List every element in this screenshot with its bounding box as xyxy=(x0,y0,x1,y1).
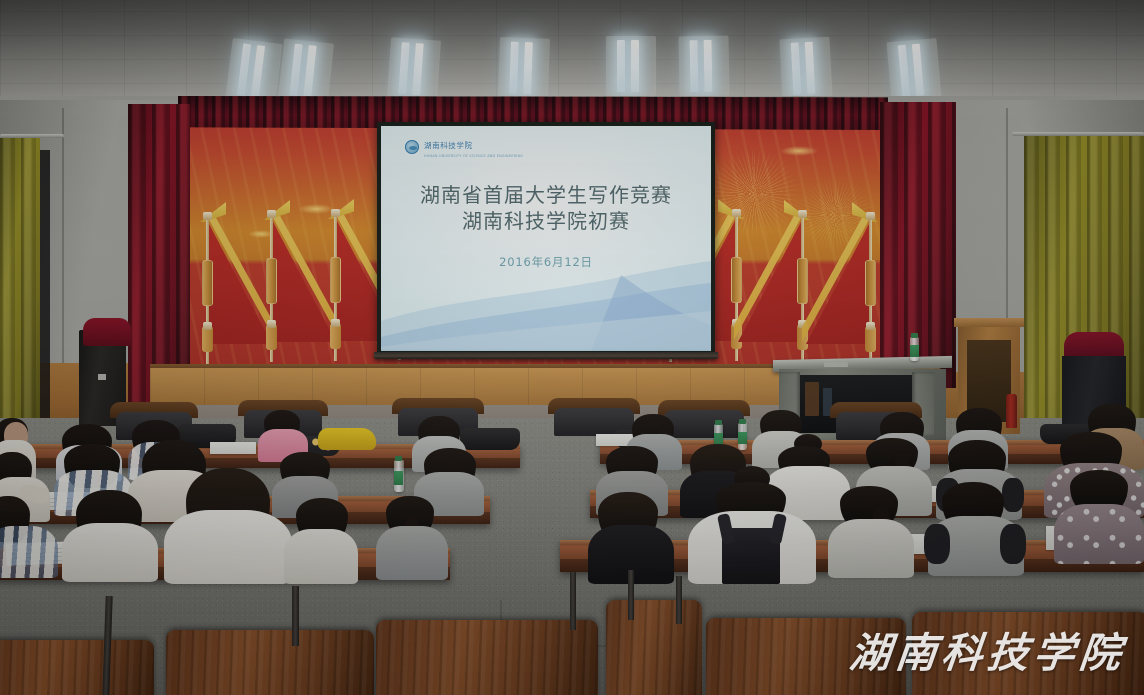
slide-title-line1: 湖南省首届大学生写作竞赛 xyxy=(381,182,711,208)
student-foreground xyxy=(688,470,816,584)
door-gap xyxy=(40,150,50,422)
handbag xyxy=(460,428,520,450)
ceiling-lamp xyxy=(896,43,934,98)
slide-date: 2016年6月12日 xyxy=(381,254,711,270)
university-seal-icon: 湖南科技学院 HUNAN UNIVERSITY OF SCIENCE AND E… xyxy=(405,135,523,158)
wall-seam xyxy=(62,108,64,370)
banner-flag xyxy=(806,176,876,366)
student-foreground xyxy=(164,468,292,584)
water-bottle-icon xyxy=(394,460,404,492)
foreground-chair xyxy=(0,640,154,695)
screen-bottom-bar xyxy=(374,352,718,359)
ceiling-lamp xyxy=(615,40,649,92)
foreground-chair xyxy=(166,630,374,695)
student xyxy=(1054,470,1144,564)
student xyxy=(376,496,448,580)
foreground-chair xyxy=(606,600,702,695)
slide-logo-text: 湖南科技学院 xyxy=(424,141,473,150)
stage-curtain-left xyxy=(128,104,190,404)
ceiling-lamp xyxy=(235,43,275,99)
slide-wave-graphic xyxy=(381,259,711,351)
console-label-plate xyxy=(824,362,848,367)
red-cloth-drape xyxy=(83,318,131,346)
ceiling-shading xyxy=(0,0,1144,108)
ceiling-lamp xyxy=(507,41,543,94)
seal-mark-icon xyxy=(405,140,419,154)
desk-leg xyxy=(676,576,682,624)
banner-flag xyxy=(202,176,272,366)
ceiling-lamp xyxy=(396,42,434,96)
banner-flag xyxy=(738,174,808,364)
side-curtain-olive-left xyxy=(0,138,40,428)
student xyxy=(284,498,358,584)
water-bottle-icon xyxy=(910,337,919,361)
glow-dot xyxy=(780,146,818,156)
desk-leg xyxy=(292,586,299,646)
student xyxy=(62,490,158,582)
projection-screen: 湖南科技学院 HUNAN UNIVERSITY OF SCIENCE AND E… xyxy=(377,122,715,355)
slide-title: 湖南省首届大学生写作竞赛 湖南科技学院初赛 xyxy=(381,182,711,235)
student xyxy=(0,496,58,578)
yellow-bag xyxy=(318,428,376,450)
ceiling-lamp xyxy=(688,40,723,93)
foreground-chair xyxy=(376,620,598,695)
student xyxy=(928,482,1024,576)
slide-logo-subtext: HUNAN UNIVERSITY OF SCIENCE AND ENGINEER… xyxy=(424,154,523,158)
banner-flag xyxy=(266,174,336,364)
desk-leg xyxy=(570,572,576,630)
watermark: 湖南科技学院 xyxy=(847,619,1129,679)
ceiling-lamp xyxy=(789,41,826,95)
slide-surface: 湖南科技学院 HUNAN UNIVERSITY OF SCIENCE AND E… xyxy=(381,126,711,351)
ceiling-lamp xyxy=(287,43,326,98)
slide-title-line2: 湖南科技学院初赛 xyxy=(381,208,711,234)
desk-leg xyxy=(628,570,634,620)
student xyxy=(828,486,914,578)
lecture-hall-photo: 湖南科技学院 HUNAN UNIVERSITY OF SCIENCE AND E… xyxy=(0,0,1144,695)
